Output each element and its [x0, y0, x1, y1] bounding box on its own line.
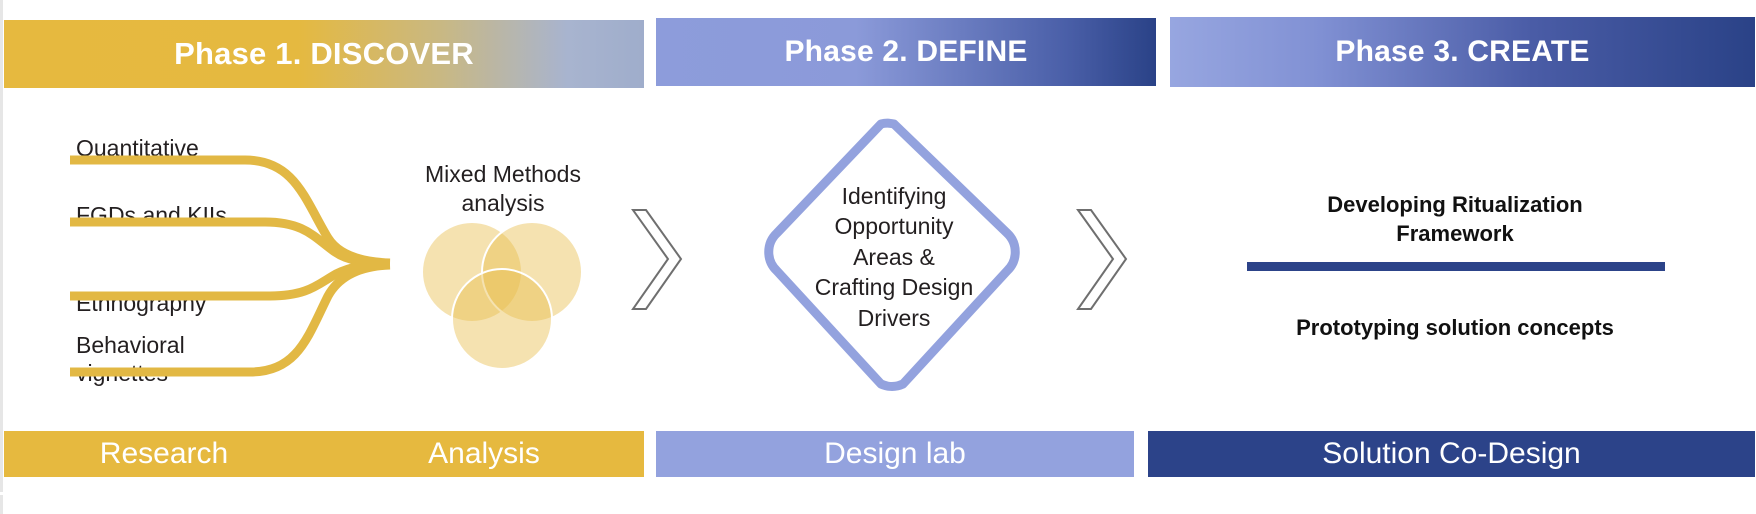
venn-title: Mixed Methods analysis	[398, 160, 608, 218]
footer-phase-3[interactable]: Solution Co-Design	[1148, 431, 1755, 477]
phase-1-header[interactable]: Phase 1. DISCOVER	[4, 20, 644, 88]
footer-phase-2[interactable]: Design lab	[656, 431, 1134, 477]
converging-branches-icon	[60, 150, 420, 385]
left-divider	[0, 0, 3, 514]
footer-label-research: Research	[4, 437, 324, 471]
process-diagram: Phase 1. DISCOVER Phase 2. DEFINE Phase …	[0, 0, 1756, 514]
create-divider	[1247, 262, 1665, 271]
footer-phase-1[interactable]: Research Analysis	[4, 431, 644, 477]
venn-diagram-icon	[420, 222, 590, 370]
bottom-divider	[0, 492, 1756, 495]
footer-label-design-lab: Design lab	[824, 437, 966, 471]
top-divider	[0, 0, 1756, 3]
footer-label-solution-codesign: Solution Co-Design	[1322, 437, 1580, 471]
double-chevron-right-icon	[1075, 207, 1145, 312]
footer-label-analysis: Analysis	[324, 437, 644, 471]
create-subtitle: Prototyping solution concepts	[1225, 315, 1685, 341]
phase-2-header[interactable]: Phase 2. DEFINE	[656, 18, 1156, 86]
create-title: Developing Ritualization Framework	[1245, 190, 1665, 248]
define-diamond-text: Identifying Opportunity Areas & Crafting…	[755, 112, 1033, 402]
phase-3-header[interactable]: Phase 3. CREATE	[1170, 17, 1755, 87]
define-diamond[interactable]: Identifying Opportunity Areas & Crafting…	[755, 112, 1033, 402]
double-chevron-right-icon	[630, 207, 700, 312]
